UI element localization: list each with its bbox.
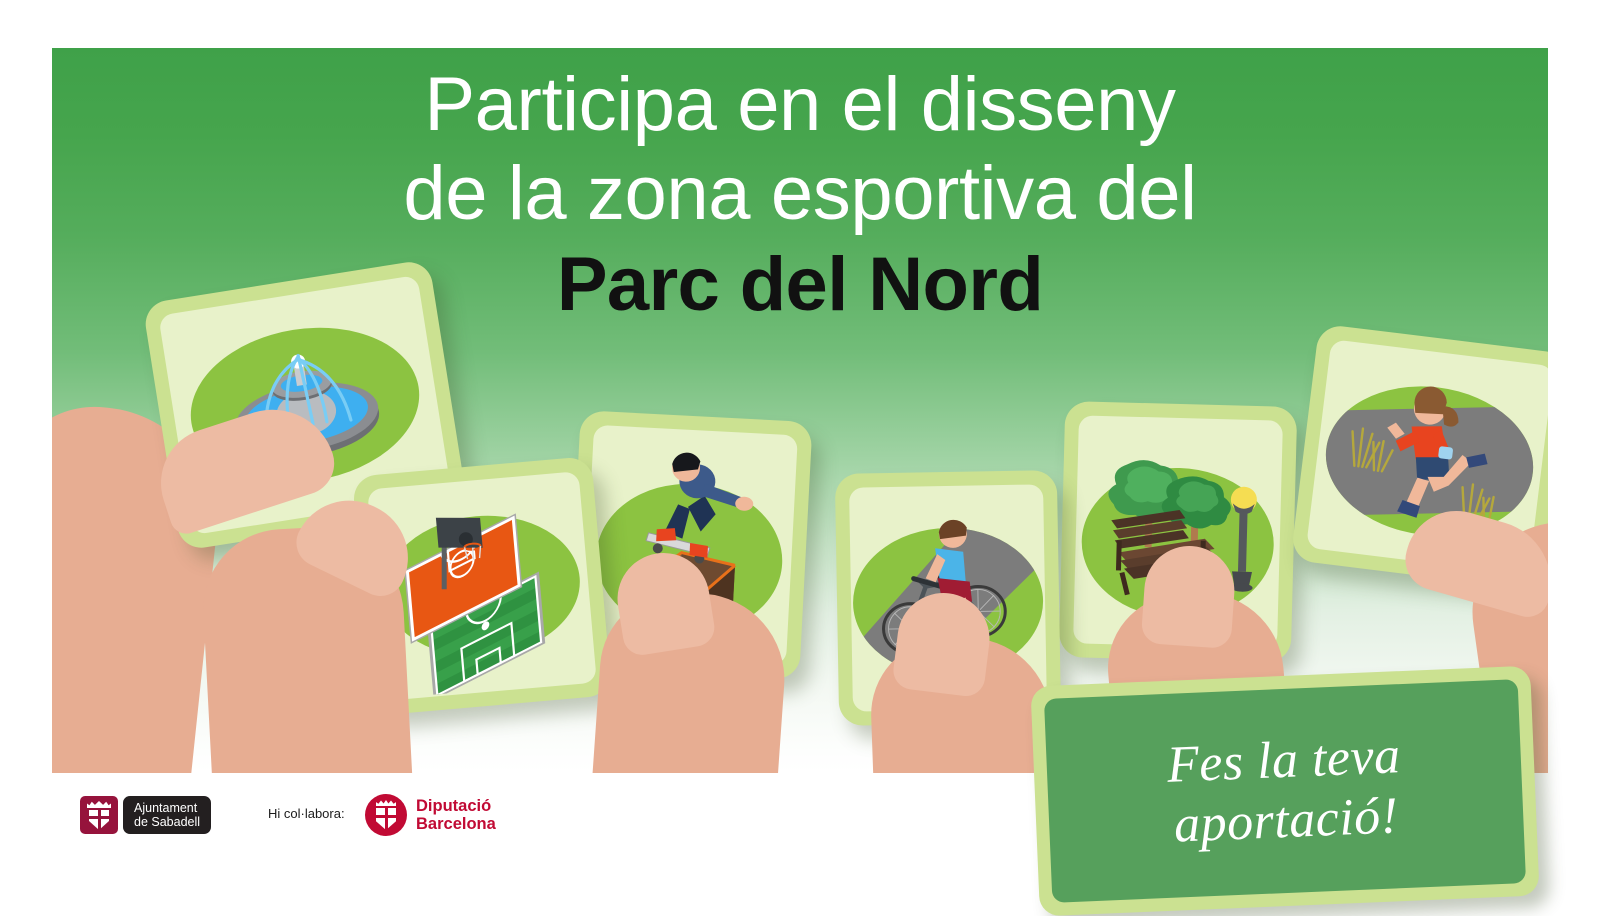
logo-diputacio-barcelona[interactable]: Diputació Barcelona bbox=[365, 793, 496, 837]
diputacio-line-2: Barcelona bbox=[416, 815, 496, 833]
diputacio-crown-shape bbox=[376, 800, 396, 806]
diputacio-line-1: Diputació bbox=[416, 797, 496, 815]
cta-line-1: Fes la teva bbox=[1166, 727, 1402, 794]
diputacio-cross-horizontal bbox=[376, 815, 396, 818]
sabadell-shield-icon bbox=[80, 796, 118, 834]
ajuntament-name-plate: Ajuntament de Sabadell bbox=[123, 796, 211, 834]
poster-stage: Participa en el disseny de la zona espor… bbox=[52, 48, 1548, 773]
ajuntament-line-1: Ajuntament bbox=[134, 801, 200, 815]
crown-shape bbox=[87, 801, 111, 808]
logo-ajuntament-sabadell[interactable]: Ajuntament de Sabadell bbox=[80, 796, 211, 834]
diputacio-shield-icon bbox=[365, 794, 407, 836]
poster-root: Participa en el disseny de la zona espor… bbox=[0, 0, 1600, 900]
crest-cross-vertical bbox=[98, 810, 101, 830]
lamp-post-icon bbox=[1228, 487, 1257, 593]
title-line-1: Participa en el disseny bbox=[52, 60, 1548, 149]
footer-logos: Ajuntament de Sabadell Hi col·labora: Di… bbox=[0, 790, 1600, 860]
diputacio-name: Diputació Barcelona bbox=[416, 797, 496, 833]
ajuntament-line-2: de Sabadell bbox=[134, 815, 200, 829]
crest-cross-horizontal bbox=[89, 816, 109, 819]
diputacio-cross-vertical bbox=[385, 808, 388, 830]
collaborate-label: Hi col·labora: bbox=[268, 806, 345, 821]
title-line-2: de la zona esportiva del bbox=[52, 149, 1548, 238]
